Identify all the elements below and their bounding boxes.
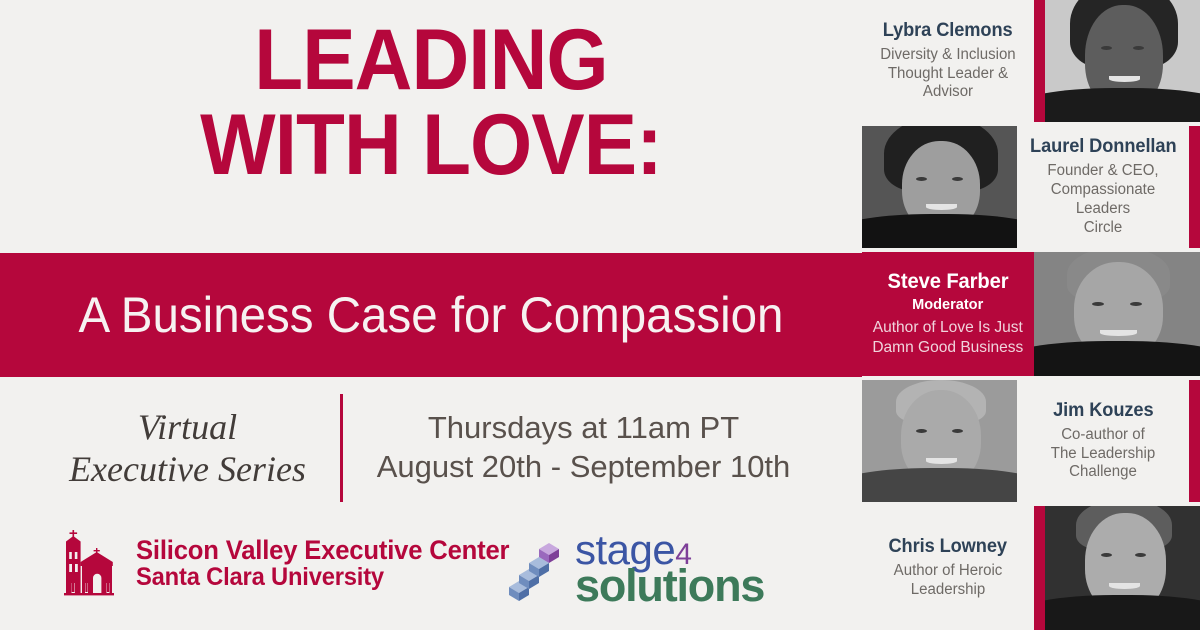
- scu-logo: Silicon Valley Executive Center Santa Cl…: [52, 528, 529, 598]
- speaker-role-line: Author of Heroic: [894, 562, 1003, 581]
- speaker-row: Steve Farber Moderator Author of Love Is…: [862, 252, 1200, 376]
- promo-poster: LEADING WITH LOVE: A Business Case for C…: [0, 0, 1200, 630]
- scu-name-secondary: Santa Clara University: [136, 564, 509, 590]
- subtitle-band: A Business Case for Compassion: [0, 253, 862, 377]
- speaker-role: Co-author of The Leadership Challenge: [1025, 426, 1180, 483]
- speaker-photo: [1045, 0, 1200, 122]
- stage4-wordmark: stage4 solutions: [575, 530, 764, 607]
- title-line-2: WITH LOVE:: [30, 103, 832, 188]
- mission-church-icon: [52, 528, 126, 598]
- speaker-photo: [1034, 252, 1200, 376]
- series-name-line-2: Executive Series: [50, 448, 326, 490]
- speaker-role: Author of Heroic Leadership: [894, 562, 1003, 600]
- speaker-title: Moderator: [912, 296, 983, 313]
- speaker-role-line: Compassionate Leaders: [1025, 181, 1180, 219]
- speaker-row: Jim Kouzes Co-author of The Leadership C…: [862, 380, 1200, 502]
- scu-name-primary: Silicon Valley Executive Center: [136, 536, 509, 564]
- speaker-role-line: Founder & CEO,: [1025, 162, 1180, 181]
- speaker-info: Jim Kouzes Co-author of The Leadership C…: [1017, 380, 1189, 502]
- speaker-info: Lybra Clemons Diversity & Inclusion Thou…: [862, 0, 1034, 122]
- scu-wordmark: Silicon Valley Executive Center Santa Cl…: [136, 536, 529, 590]
- series-and-schedule: Virtual Executive Series Thursdays at 11…: [0, 392, 862, 504]
- speaker-name: Jim Kouzes: [1053, 400, 1153, 422]
- portrait-image: [862, 380, 1017, 502]
- speaker-info: Chris Lowney Author of Heroic Leadership: [862, 506, 1034, 630]
- schedule-time: Thursdays at 11am PT: [355, 409, 813, 448]
- speaker-row: Chris Lowney Author of Heroic Leadership: [862, 506, 1200, 630]
- portrait-image: [1045, 0, 1200, 122]
- accent-bar: [1189, 126, 1200, 248]
- schedule-block: Thursdays at 11am PT August 20th - Septe…: [343, 409, 813, 487]
- series-name: Virtual Executive Series: [50, 406, 340, 491]
- speaker-photo: [862, 380, 1017, 502]
- speaker-role-line: Thought Leader & Advisor: [870, 65, 1025, 103]
- accent-bar: [1034, 0, 1045, 122]
- stage4-word-solutions: solutions: [575, 565, 764, 607]
- speaker-role: Founder & CEO, Compassionate Leaders Cir…: [1025, 162, 1180, 238]
- portrait-image: [1045, 506, 1200, 630]
- speaker-role-line: Co-author of: [1025, 426, 1180, 445]
- accent-bar: [1189, 380, 1200, 502]
- speaker-role-line: Diversity & Inclusion: [870, 46, 1025, 65]
- speaker-role-line: The Leadership Challenge: [1025, 445, 1180, 483]
- speaker-name: Laurel Donnellan: [1030, 136, 1176, 158]
- event-title: LEADING WITH LOVE:: [0, 18, 862, 188]
- speaker-photo: [1045, 506, 1200, 630]
- speaker-row: Lybra Clemons Diversity & Inclusion Thou…: [862, 0, 1200, 122]
- portrait-image: [862, 126, 1017, 248]
- speaker-name: Lybra Clemons: [883, 20, 1013, 42]
- speaker-info: Steve Farber Moderator Author of Love Is…: [862, 252, 1034, 376]
- speaker-role-line: Damn Good Business: [873, 338, 1024, 358]
- speaker-name: Chris Lowney: [889, 536, 1007, 558]
- series-name-line-1: Virtual: [50, 406, 326, 448]
- speaker-role-line: Leadership: [894, 581, 1003, 600]
- stacked-cubes-icon: [505, 535, 571, 601]
- speaker-name: Steve Farber: [888, 270, 1009, 294]
- stage4solutions-logo: stage4 solutions: [505, 530, 764, 607]
- speaker-photo: [862, 126, 1017, 248]
- speaker-row: Laurel Donnellan Founder & CEO, Compassi…: [862, 126, 1200, 248]
- main-panel: LEADING WITH LOVE: A Business Case for C…: [0, 0, 862, 630]
- title-line-1: LEADING: [30, 18, 832, 103]
- portrait-image: [1034, 252, 1200, 376]
- event-subtitle: A Business Case for Compassion: [79, 286, 784, 344]
- speaker-info: Laurel Donnellan Founder & CEO, Compassi…: [1017, 126, 1189, 248]
- schedule-dates: August 20th - September 10th: [355, 448, 813, 487]
- speaker-role: Diversity & Inclusion Thought Leader & A…: [870, 46, 1025, 103]
- speaker-role-line: Circle: [1025, 219, 1180, 238]
- speaker-column: Lybra Clemons Diversity & Inclusion Thou…: [862, 0, 1200, 630]
- speaker-role-line: Author of Love Is Just: [873, 318, 1024, 338]
- logo-row: Silicon Valley Executive Center Santa Cl…: [0, 518, 862, 618]
- speaker-role: Author of Love Is Just Damn Good Busines…: [873, 318, 1024, 357]
- accent-bar: [1034, 506, 1045, 630]
